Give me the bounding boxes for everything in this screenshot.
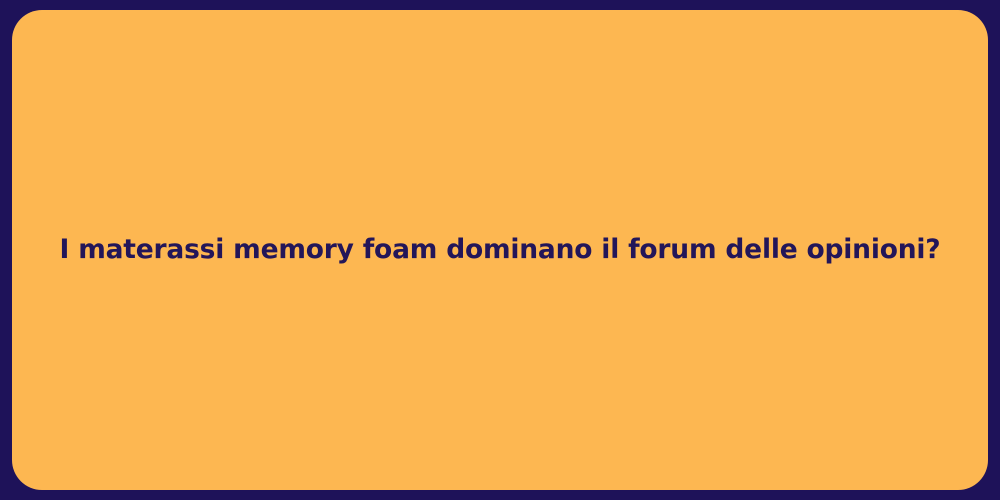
headline-card: I materassi memory foam dominano il foru… <box>12 10 988 490</box>
page-title: I materassi memory foam dominano il foru… <box>60 233 941 266</box>
banner-root: I materassi memory foam dominano il foru… <box>0 0 1000 500</box>
